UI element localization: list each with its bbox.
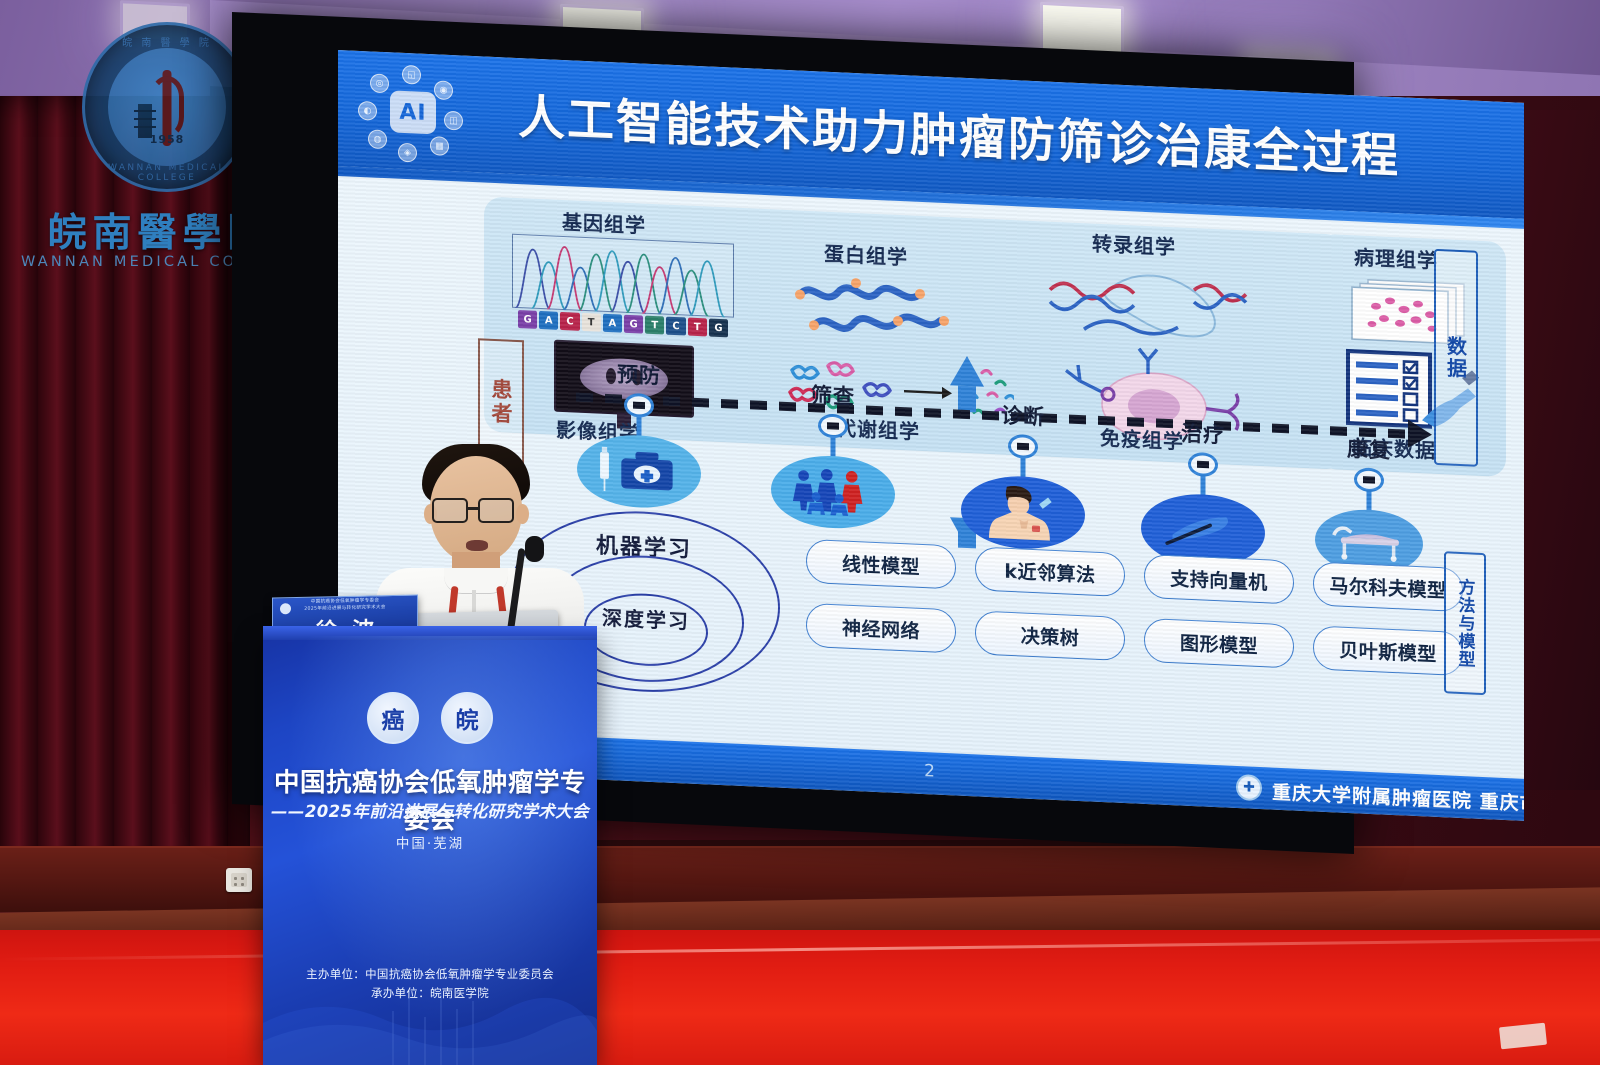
data-vertical-label: 数据 (1434, 249, 1478, 467)
people-group-icon (784, 466, 882, 518)
ai-logo-cluster: AI ◱ ◉ ◫ ▦ ◈ ◍ ◐ ◎ (356, 63, 468, 166)
omics-label-genomics: 基因组学 (562, 206, 646, 239)
timeline-label: 筛查 (811, 379, 855, 411)
methods-models-vertical-label: 方法与模型 (1444, 551, 1486, 695)
model-pill[interactable]: 神经网络 (806, 603, 956, 654)
timeline-node-screening[interactable]: 筛查 (768, 411, 898, 539)
slide-page-number: 2 (924, 761, 935, 781)
dna-base: A (539, 311, 558, 330)
seal-bottom-arc-text: WANNAN MEDICAL COLLEGE (85, 163, 249, 183)
ai-node-icon-6: ◍ (368, 129, 387, 149)
ai-core-icon: AI (390, 90, 436, 134)
college-seal-icon: 皖 南 醫 學 院 1958 WANNAN MEDICAL COLLEGE (82, 22, 252, 192)
podium-organizer-line2: 承办单位：皖南医学院 (263, 984, 597, 1003)
ai-node-icon-1: ◱ (402, 65, 421, 85)
model-pill[interactable]: k近邻算法 (975, 546, 1125, 597)
timeline-marker-ring (1354, 467, 1384, 492)
timeline-label: 预防 (617, 358, 661, 390)
screening-icon-bubble (771, 453, 895, 531)
dna-base: G (709, 319, 728, 338)
wannan-college-logo-icon: 皖 (441, 692, 493, 744)
syringe-medkit-icon (593, 444, 685, 498)
seal-inner-disc: 1958 (108, 48, 226, 166)
timeline-stem (1021, 456, 1026, 478)
dna-base: A (603, 314, 622, 333)
hospital-bed-icon (1325, 520, 1413, 564)
model-pill[interactable]: 线性模型 (806, 539, 956, 590)
timeline-marker-ring (1188, 452, 1218, 477)
timeline-label: 康复 (1347, 433, 1391, 465)
model-pill-row-2: 神经网络 决策树 图形模型 贝叶斯模型 (806, 603, 1463, 676)
timeline-marker-ring (624, 393, 654, 418)
ai-node-icon-2: ◉ (434, 80, 453, 100)
cancer-association-logo-icon: 癌 (367, 692, 419, 744)
dna-base: G (624, 315, 643, 334)
podium-organizer-line1: 主办单位：中国抗癌协会低氧肿瘤学专业委员会 (263, 965, 597, 984)
dna-base: T (645, 316, 664, 335)
ai-node-icon-3: ◫ (444, 111, 463, 131)
speaker-ear-right (516, 504, 529, 524)
rna-transcription-icon (1044, 261, 1256, 354)
model-pill[interactable]: 决策树 (975, 610, 1125, 661)
timeline-label: 治疗 (1181, 418, 1225, 450)
model-pill[interactable]: 马尔科夫模型 (1313, 561, 1463, 612)
hospital-logo-icon: ✚ (1236, 774, 1262, 801)
dna-base: G (518, 310, 537, 329)
ai-node-icon-4: ▦ (430, 136, 449, 156)
podium-logo-row: 癌 皖 (263, 692, 597, 744)
timeline-marker-ring (1008, 434, 1038, 459)
microphone-head-icon (525, 536, 544, 562)
podium-wave-graphic (263, 945, 597, 1065)
model-pill[interactable]: 支持向量机 (1144, 554, 1294, 605)
stage-floor-carpet (0, 930, 1600, 1065)
glasses-lens-left (432, 498, 468, 523)
dna-base: T (582, 313, 601, 332)
omics-label-pathomics: 病理组学 (1354, 241, 1438, 274)
ai-node-icon-8: ◎ (370, 73, 389, 93)
conference-photo-scene: 皖 南 醫 學 院 1958 WANNAN MEDICAL COLLEGE 皖南… (0, 0, 1600, 1065)
asclepius-snake-icon (150, 76, 184, 138)
seal-year: 1958 (108, 133, 226, 146)
timeline-marker-ring (818, 413, 848, 438)
omics-label-transcriptomics: 转录组学 (1092, 228, 1176, 261)
podium-city: 中国·芜湖 (263, 832, 597, 852)
scalpel-icon (1160, 507, 1246, 555)
ai-node-icon-7: ◐ (358, 101, 377, 121)
podium-conference-subtitle: ——2025年前沿进展与转化研究学术大会 (263, 798, 597, 822)
up-arrow-icon (950, 355, 984, 387)
patient-torso-icon (980, 483, 1066, 543)
dna-base: C (560, 312, 579, 331)
power-outlet[interactable] (226, 868, 252, 892)
timeline-arrow-head-icon (1408, 420, 1432, 449)
dna-base: T (688, 318, 707, 337)
podium-organizers: 主办单位：中国抗癌协会低氧肿瘤学专业委员会 承办单位：皖南医学院 (263, 965, 597, 1003)
protein-helix-icon (794, 268, 984, 354)
timeline-stem (1201, 474, 1206, 496)
timeline-stem (831, 436, 836, 458)
omics-label-proteomics: 蛋白组学 (824, 238, 908, 271)
speaker-mouth (466, 540, 488, 551)
timeline-stem (1367, 490, 1372, 512)
timeline-label: 诊断 (1001, 400, 1045, 432)
conference-podium: 癌 皖 中国抗癌协会低氧肿瘤学专委会 ——2025年前沿进展与转化研究学术大会 … (263, 636, 597, 1065)
glasses-bridge (466, 507, 480, 510)
timeline-node-diagnosis[interactable]: 诊断 (958, 432, 1088, 560)
podium-top-edge (263, 626, 597, 640)
ai-node-icon-5: ◈ (398, 143, 417, 163)
diagnosis-icon-bubble (961, 474, 1085, 552)
model-pill[interactable]: 贝叶斯模型 (1313, 625, 1463, 676)
timeline-stem (637, 415, 642, 437)
glasses-lens-right (478, 498, 514, 523)
model-pill[interactable]: 图形模型 (1144, 618, 1294, 669)
sequencing-chromatogram-icon (512, 234, 734, 318)
dna-base: C (666, 317, 685, 336)
seal-top-arc-text: 皖 南 醫 學 院 (85, 34, 249, 49)
